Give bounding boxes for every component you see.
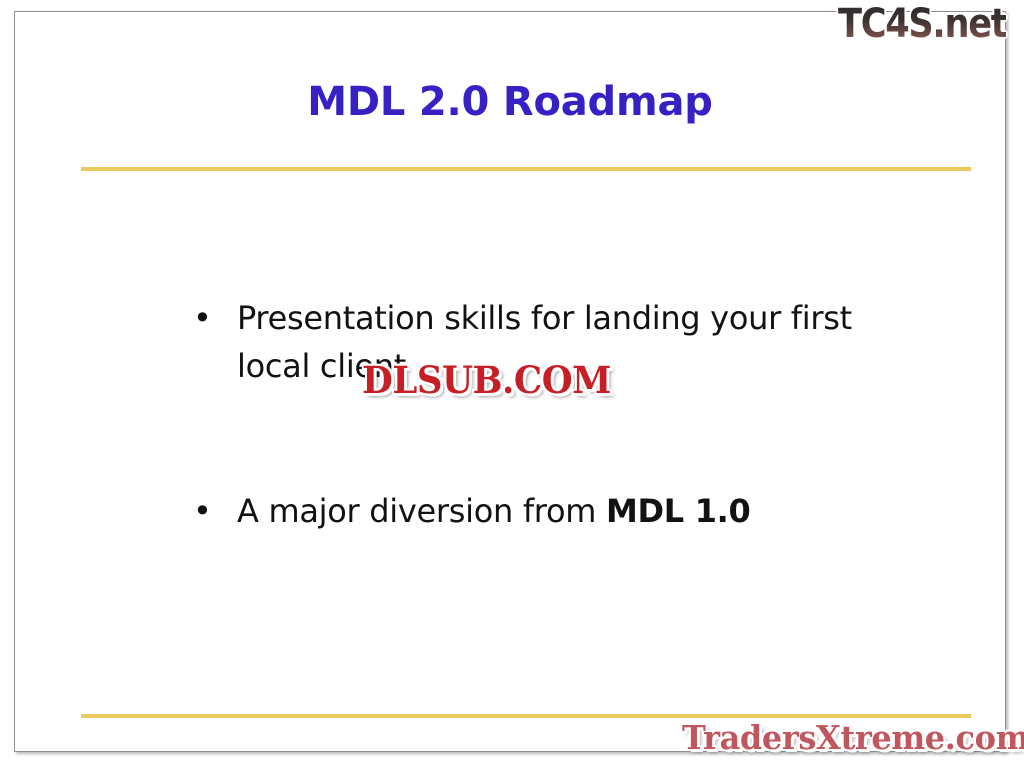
- slide-title: MDL 2.0 Roadmap: [15, 80, 1005, 124]
- list-item: •A major diversion from MDL 1.0: [183, 487, 923, 535]
- bullet-list: •Presentation skills for landing your fi…: [183, 294, 923, 535]
- slide-frame: MDL 2.0 Roadmap •Presentation skills for…: [14, 11, 1006, 752]
- bullet-dot-icon: •: [193, 294, 212, 342]
- list-item-emphasis: MDL 1.0: [606, 492, 751, 530]
- list-item-text: A major diversion from: [237, 492, 606, 530]
- list-item: •Presentation skills for landing your fi…: [183, 294, 923, 390]
- bullet-dot-icon: •: [193, 487, 212, 535]
- divider-bottom: [81, 714, 971, 718]
- list-item-text: Presentation skills for landing your fir…: [237, 299, 852, 385]
- divider-top: [81, 167, 971, 171]
